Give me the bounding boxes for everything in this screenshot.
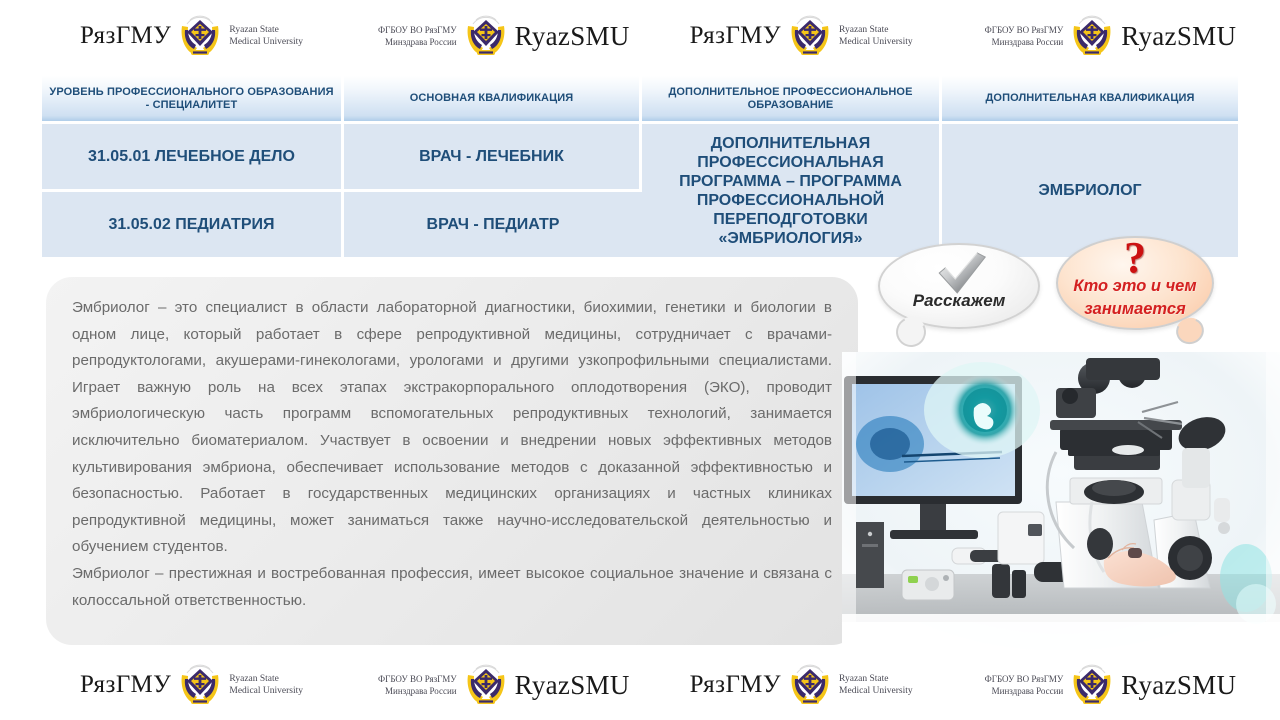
table-header-row: УРОВЕНЬ ПРОФЕССИОНАЛЬНОГО ОБРАЗОВАНИЯ - … (42, 76, 1238, 124)
logo-subtitle: ФГБОУ ВО РязГМУ Минздрава России (985, 24, 1064, 48)
ryazgmu-emblem-icon (177, 661, 223, 709)
logo-subtitle: Ryazan State Medical University (839, 24, 913, 48)
logo-subtitle-line1: ФГБОУ ВО РязГМУ (378, 25, 457, 35)
column-header-education-level: УРОВЕНЬ ПРОФЕССИОНАЛЬНОГО ОБРАЗОВАНИЯ - … (42, 76, 344, 124)
logo-ryazsmu-en-2: ФГБОУ ВО РязГМУ Минздрава России (985, 661, 1237, 709)
logo-subtitle-line1: Ryazan State (229, 674, 278, 684)
ryazgmu-emblem-icon (463, 12, 509, 60)
logo-subtitle-line2: Минздрава России (385, 686, 457, 696)
column-header-additional-education: ДОПОЛНИТЕЛЬНОЕ ПРОФЕССИОНАЛЬНОЕ ОБРАЗОВА… (642, 76, 942, 124)
logo-ryazgmu-ru-2: РязГМУ Ryazan State Medical Uni (690, 12, 913, 60)
lab-photo-illustration (842, 352, 1280, 652)
logo-wordmark: RyazSMU (515, 21, 630, 52)
ryazgmu-emblem-icon (463, 661, 509, 709)
cell-retraining-program: ДОПОЛНИТЕЛЬНАЯ ПРОФЕССИОНАЛЬНАЯ ПРОГРАММ… (642, 124, 942, 260)
logo-wordmark: РязГМУ (80, 671, 171, 699)
description-paragraph-2: Эмбриолог – престижная и востребованная … (72, 561, 832, 614)
logo-subtitle-line2: Medical University (229, 686, 303, 696)
logo-subtitle-line1: Ryazan State (839, 25, 888, 35)
ryazgmu-emblem-icon (1069, 661, 1115, 709)
speech-bubble-question: ? Кто это и чем занимается (1056, 236, 1214, 330)
column-header-additional-qualification: ДОПОЛНИТЕЛЬНАЯ КВАЛИФИКАЦИЯ (942, 76, 1238, 124)
cell-specialty: 31.05.02 ПЕДИАТРИЯ (42, 192, 344, 260)
bubble-label-question-line2: занимается (1058, 300, 1212, 319)
logo-subtitle-line1: ФГБОУ ВО РязГМУ (985, 25, 1064, 35)
column-header-main-qualification: ОСНОВНАЯ КВАЛИФИКАЦИЯ (344, 76, 642, 124)
ryazgmu-emblem-icon (1069, 12, 1115, 60)
logo-wordmark: RyazSMU (1121, 670, 1236, 701)
header-logo-band: РязГМУ Ryazan State (0, 0, 1280, 72)
logo-subtitle: ФГБОУ ВО РязГМУ Минздрава России (378, 673, 457, 697)
speech-bubble-tell: Расскажем (878, 243, 1040, 329)
question-mark-icon: ? (1124, 236, 1146, 280)
logo-subtitle-line1: ФГБОУ ВО РязГМУ (985, 674, 1064, 684)
bubble-tail (892, 313, 930, 351)
table-row: 31.05.01 ЛЕЧЕБНОЕ ДЕЛО ВРАЧ - ЛЕЧЕБНИК Д… (42, 124, 1238, 192)
logo-subtitle: Ryazan State Medical University (229, 24, 303, 48)
logo-subtitle-line2: Минздрава России (385, 37, 457, 47)
description-paragraph-1: Эмбриолог – это специалист в области лаб… (72, 295, 832, 561)
footer-logo-band: РязГМУ Ryazan State Medical Uni (0, 650, 1280, 720)
logo-ryazsmu-en-1: ФГБОУ ВО РязГМУ Минздрава России (378, 12, 630, 60)
logo-wordmark: РязГМУ (690, 671, 781, 699)
logo-subtitle-line1: ФГБОУ ВО РязГМУ (378, 674, 457, 684)
logo-subtitle: ФГБОУ ВО РязГМУ Минздрава России (378, 24, 457, 48)
logo-ryazgmu-ru-2: РязГМУ Ryazan State Medical Uni (690, 661, 913, 709)
bubble-tail (1172, 314, 1207, 348)
logo-wordmark: RyazSMU (1121, 21, 1236, 52)
logo-subtitle-line2: Medical University (839, 686, 913, 696)
bubble-label-tell: Расскажем (880, 291, 1038, 311)
logo-wordmark: RyazSMU (515, 670, 630, 701)
cell-additional-qualification: ЭМБРИОЛОГ (942, 124, 1238, 260)
logo-subtitle-line1: Ryazan State (839, 674, 888, 684)
ryazgmu-emblem-icon (787, 12, 833, 60)
logo-subtitle: ФГБОУ ВО РязГМУ Минздрава России (985, 673, 1064, 697)
logo-subtitle-line2: Минздрава России (992, 686, 1064, 696)
ryazgmu-emblem-icon (787, 661, 833, 709)
qualification-table: УРОВЕНЬ ПРОФЕССИОНАЛЬНОГО ОБРАЗОВАНИЯ - … (42, 76, 1238, 260)
logo-subtitle-line1: Ryazan State (229, 25, 278, 35)
logo-subtitle: Ryazan State Medical University (839, 673, 913, 697)
cell-qualification: ВРАЧ - ЛЕЧЕБНИК (344, 124, 642, 192)
description-panel: Эмбриолог – это специалист в области лаб… (46, 277, 858, 645)
logo-wordmark: РязГМУ (80, 22, 171, 50)
ryazgmu-emblem-icon (177, 12, 223, 60)
logo-ryazgmu-ru-1: РязГМУ Ryazan State (80, 12, 303, 60)
logo-subtitle-line2: Medical University (229, 37, 303, 47)
logo-ryazsmu-en-2: ФГБОУ ВО РязГМУ Минздрава России (985, 12, 1237, 60)
logo-subtitle-line2: Минздрава России (992, 37, 1064, 47)
logo-wordmark: РязГМУ (690, 22, 781, 50)
logo-subtitle-line2: Medical University (839, 37, 913, 47)
logo-subtitle: Ryazan State Medical University (229, 673, 303, 697)
cell-qualification: ВРАЧ - ПЕДИАТР (344, 192, 642, 260)
logo-ryazgmu-ru-1: РязГМУ Ryazan State Medical Uni (80, 661, 303, 709)
logo-ryazsmu-en-1: ФГБОУ ВО РязГМУ Минздрава России (378, 661, 630, 709)
cell-specialty: 31.05.01 ЛЕЧЕБНОЕ ДЕЛО (42, 124, 344, 192)
bubble-label-question-line1: Кто это и чем (1058, 277, 1212, 296)
embryology-lab-photo (842, 352, 1280, 652)
